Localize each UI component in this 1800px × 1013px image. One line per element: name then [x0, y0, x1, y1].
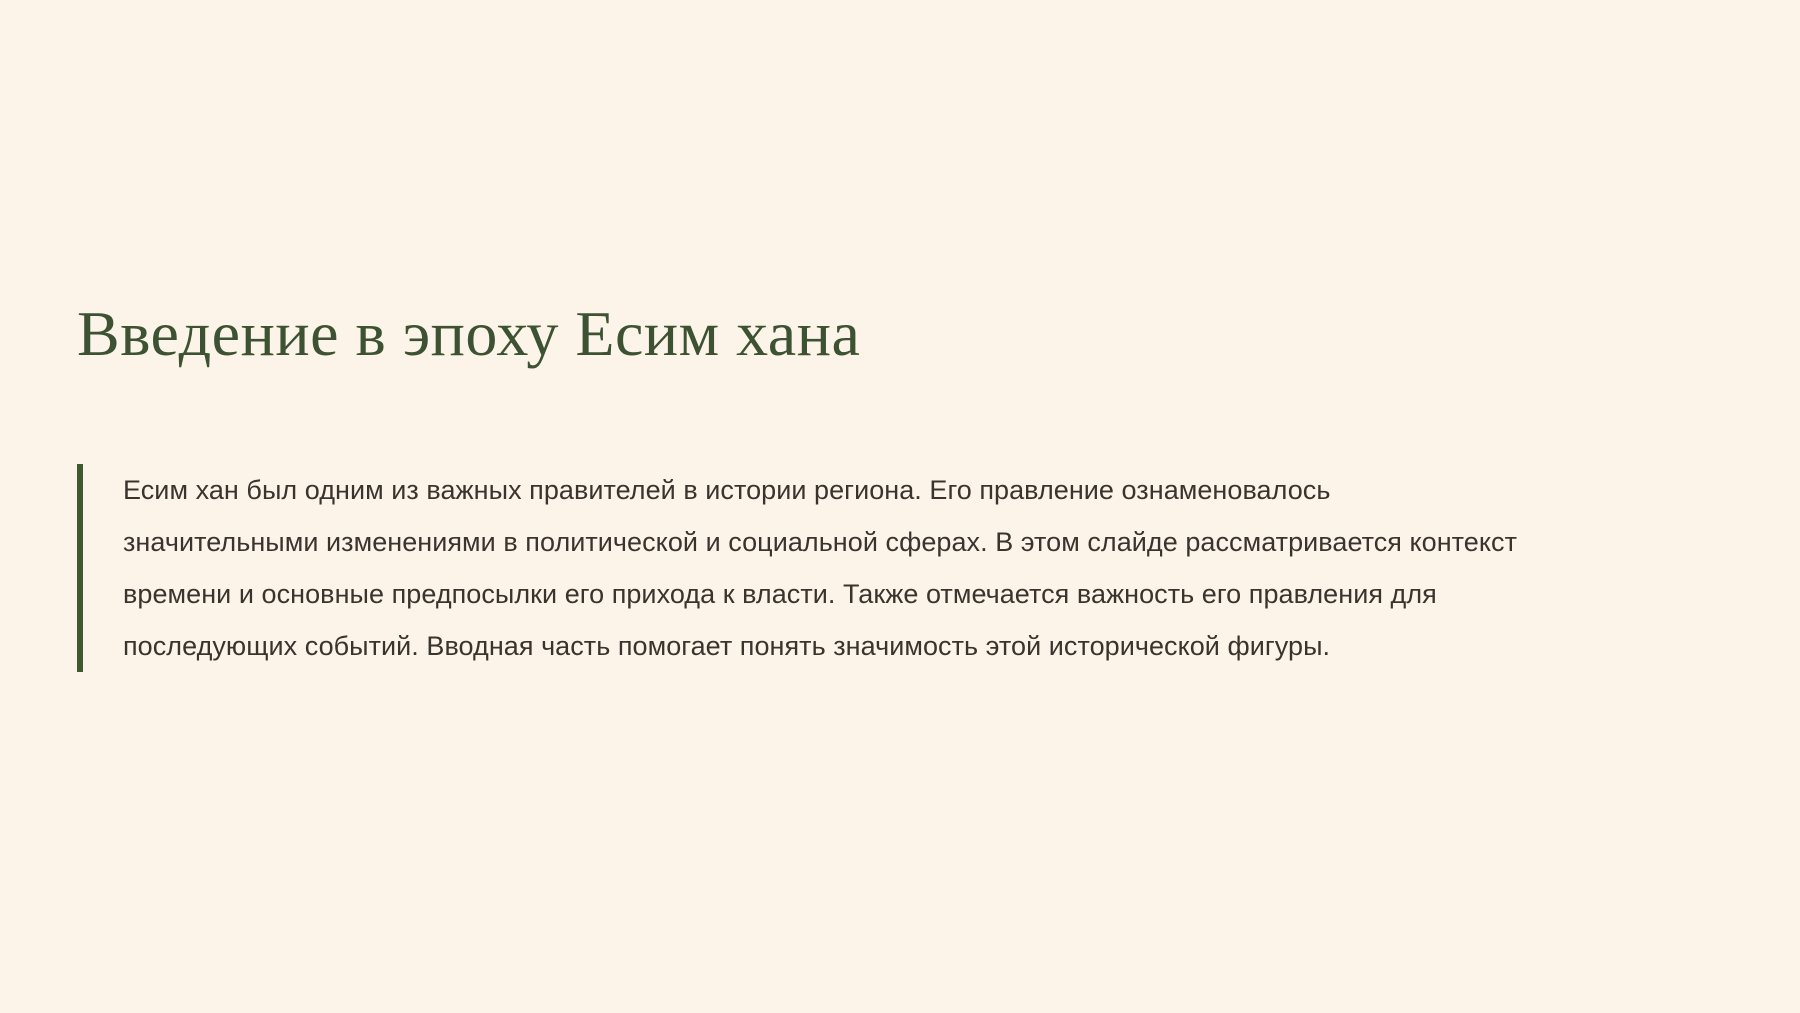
page-title: Введение в эпоху Есим хана	[77, 297, 860, 371]
slide-canvas: Введение в эпоху Есим хана Есим хан был …	[0, 0, 1800, 1013]
slide-content: Введение в эпоху Есим хана Есим хан был …	[77, 0, 1717, 1013]
body-callout: Есим хан был одним из важных правителей …	[77, 464, 1522, 672]
body-paragraph: Есим хан был одним из важных правителей …	[83, 464, 1522, 672]
